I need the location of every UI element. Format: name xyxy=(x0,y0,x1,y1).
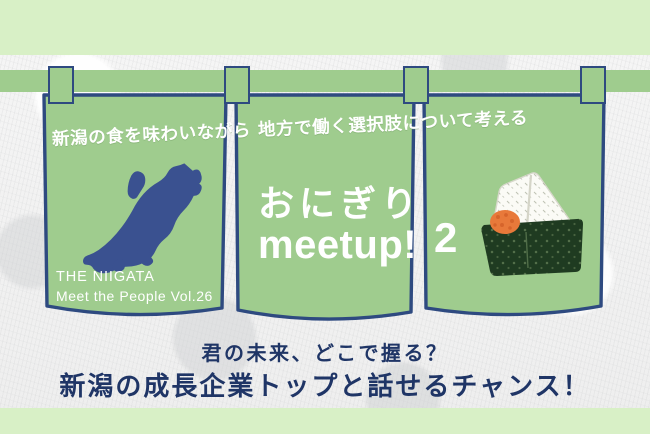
catchcopy-line-1: 君の未来、どこで握る？ xyxy=(0,337,650,366)
catchcopy-line-2: 新潟の成長企業トップと話せるチャンス！ xyxy=(0,366,650,403)
event-title: おにぎり meetup! xyxy=(258,182,422,267)
hanger-loop xyxy=(224,66,250,104)
brand-line-1: THE NIIGATA xyxy=(56,268,213,287)
hanger-loop xyxy=(580,66,606,104)
poster-canvas: 新潟の食を味わいながら地方で働く選択肢について考える THE NIIGATA M… xyxy=(0,0,650,434)
brand-block: THE NIIGATA Meet the People Vol.26 xyxy=(56,268,213,306)
hanger-loop xyxy=(48,66,74,104)
brand-line-2: Meet the People Vol.26 xyxy=(56,287,213,306)
event-title-english: meetup! xyxy=(258,223,422,267)
hanger-loop xyxy=(403,66,429,104)
event-title-volume: 2 xyxy=(434,217,457,259)
event-title-japanese: おにぎり xyxy=(258,182,422,226)
